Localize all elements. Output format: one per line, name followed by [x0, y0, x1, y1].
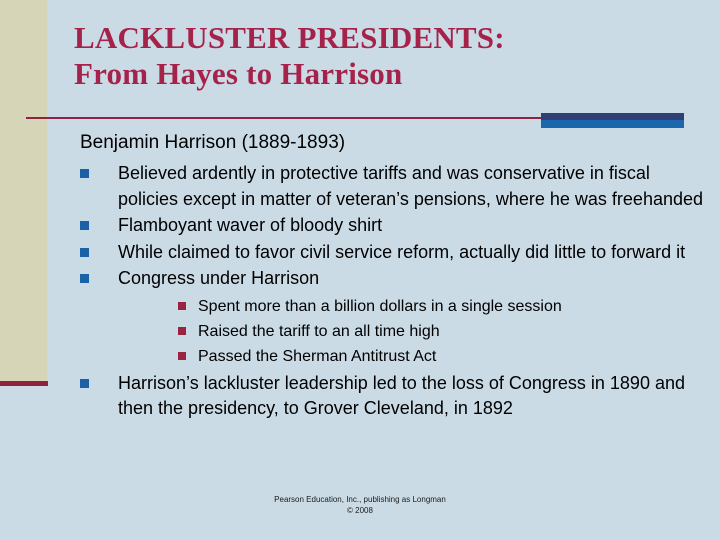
presentation-slide: LACKLUSTER PRESIDENTS: From Hayes to Har… [0, 0, 720, 540]
list-item-text: Congress under Harrison [118, 268, 319, 288]
square-subbullet-icon [178, 352, 186, 360]
square-bullet-icon [80, 248, 89, 257]
square-subbullet-icon [178, 302, 186, 310]
title-divider-bar-top [541, 113, 684, 120]
square-bullet-icon [80, 221, 89, 230]
slide-title: LACKLUSTER PRESIDENTS: From Hayes to Har… [74, 20, 694, 92]
slide-title-line-1: LACKLUSTER PRESIDENTS: [74, 20, 694, 56]
slide-body: Benjamin Harrison (1889-1893) Believed a… [60, 130, 708, 423]
slide-title-line-2: From Hayes to Harrison [74, 56, 694, 92]
decorative-side-rule [0, 381, 48, 386]
square-subbullet-icon [178, 327, 186, 335]
list-item: Harrison’s lackluster leadership led to … [60, 371, 708, 422]
decorative-side-band [0, 0, 47, 381]
bullet-list-level2: Spent more than a billion dollars in a s… [118, 294, 708, 369]
square-bullet-icon [80, 379, 89, 388]
list-item-text: Harrison’s lackluster leadership led to … [118, 373, 685, 419]
sub-list-item-text: Spent more than a billion dollars in a s… [198, 298, 562, 315]
list-item: Congress under Harrison Spent more than … [60, 266, 708, 369]
list-item-text: While claimed to favor civil service ref… [118, 242, 685, 262]
list-item-text: Flamboyant waver of bloody shirt [118, 215, 382, 235]
sub-list-item-text: Passed the Sherman Antitrust Act [198, 348, 436, 365]
bullet-list-level1: Believed ardently in protective tariffs … [60, 161, 708, 422]
title-divider-bar-bottom [541, 120, 684, 128]
sub-list-item: Raised the tariff to an all time high [118, 319, 708, 344]
list-item-text: Believed ardently in protective tariffs … [118, 163, 703, 209]
sub-list-item: Passed the Sherman Antitrust Act [118, 344, 708, 369]
list-item: While claimed to favor civil service ref… [60, 240, 708, 266]
sub-list-item: Spent more than a billion dollars in a s… [118, 294, 708, 319]
square-bullet-icon [80, 169, 89, 178]
square-bullet-icon [80, 274, 89, 283]
title-divider-bar [541, 113, 684, 128]
slide-footer: Pearson Education, Inc., publishing as L… [0, 494, 720, 516]
list-item: Believed ardently in protective tariffs … [60, 161, 708, 212]
sub-list-item-text: Raised the tariff to an all time high [198, 323, 440, 340]
list-item: Flamboyant waver of bloody shirt [60, 213, 708, 239]
footer-copyright: © 2008 [0, 505, 720, 516]
footer-publisher: Pearson Education, Inc., publishing as L… [0, 494, 720, 505]
title-divider-rule [26, 117, 545, 119]
body-lead-line: Benjamin Harrison (1889-1893) [80, 130, 708, 156]
